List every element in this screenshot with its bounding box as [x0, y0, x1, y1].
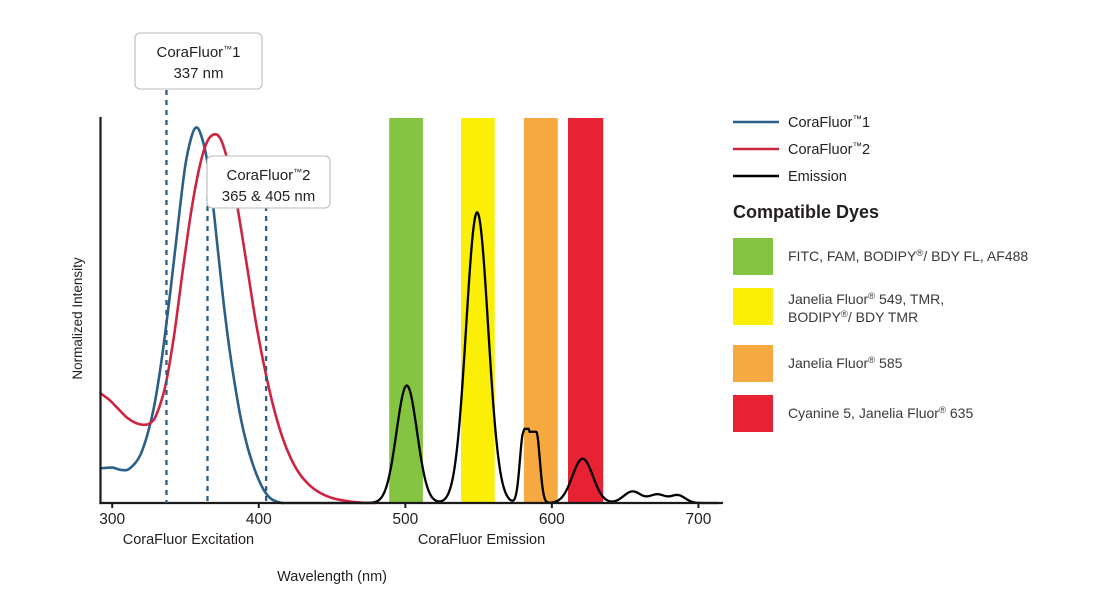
dye-label: FITC, FAM, BODIPY®/ BDY FL, AF488 [788, 248, 1028, 265]
dye-item-3[interactable]: Janelia Fluor® 585 [733, 345, 903, 382]
legend-item-1[interactable]: CoraFluor™1 [733, 114, 870, 132]
legend-label: CoraFluor™2 [788, 141, 870, 159]
x-group-label-emission: CoraFluor Emission [418, 532, 545, 548]
compatible-dyes-heading: Compatible Dyes [733, 202, 879, 222]
dye-color-swatch [733, 395, 773, 432]
legend-label: CoraFluor™1 [788, 114, 870, 132]
callout-2: CoraFluor™2365 & 405 nm [207, 156, 330, 208]
callout-1: CoraFluor™1337 nm [135, 33, 262, 89]
x-tick-label: 500 [392, 511, 418, 528]
x-tick-label: 400 [246, 511, 272, 528]
legend-label: Emission [788, 169, 847, 185]
dye-color-swatch [733, 345, 773, 382]
orange-band [524, 118, 558, 503]
compatible-dyes-layer: Compatible DyesFITC, FAM, BODIPY®/ BDY F… [733, 202, 1028, 432]
legend-item-3[interactable]: Emission [733, 169, 847, 185]
dye-label: Janelia Fluor® 585 [788, 355, 903, 372]
y-axis-title: Normalized Intensity [70, 257, 85, 380]
x-group-label-excitation: CoraFluor Excitation [123, 532, 254, 548]
x-tick-label: 600 [539, 511, 565, 528]
red-band [568, 118, 603, 503]
callout-value: 365 & 405 nm [222, 188, 315, 205]
dye-item-2[interactable]: Janelia Fluor® 549, TMR,BODIPY®/ BDY TMR [733, 288, 944, 325]
spectra-figure: 300400500600700CoraFluor ExcitationCoraF… [0, 0, 1110, 612]
legend-item-2[interactable]: CoraFluor™2 [733, 141, 870, 159]
legend-layer: CoraFluor™1CoraFluor™2Emission [733, 114, 870, 186]
dye-label: Cyanine 5, Janelia Fluor® 635 [788, 405, 973, 422]
callout-layer: CoraFluor™1337 nmCoraFluor™2365 & 405 nm [135, 33, 330, 208]
dye-label: Janelia Fluor® 549, TMR,BODIPY®/ BDY TMR [788, 291, 944, 326]
dye-item-4[interactable]: Cyanine 5, Janelia Fluor® 635 [733, 395, 973, 432]
x-tick-label: 700 [685, 511, 711, 528]
callout-value: 337 nm [173, 65, 223, 82]
dye-color-swatch [733, 288, 773, 325]
dye-color-swatch [733, 238, 773, 275]
x-tick-label: 300 [99, 511, 125, 528]
x-axis-title: Wavelength (nm) [277, 569, 387, 585]
dye-item-1[interactable]: FITC, FAM, BODIPY®/ BDY FL, AF488 [733, 238, 1028, 275]
